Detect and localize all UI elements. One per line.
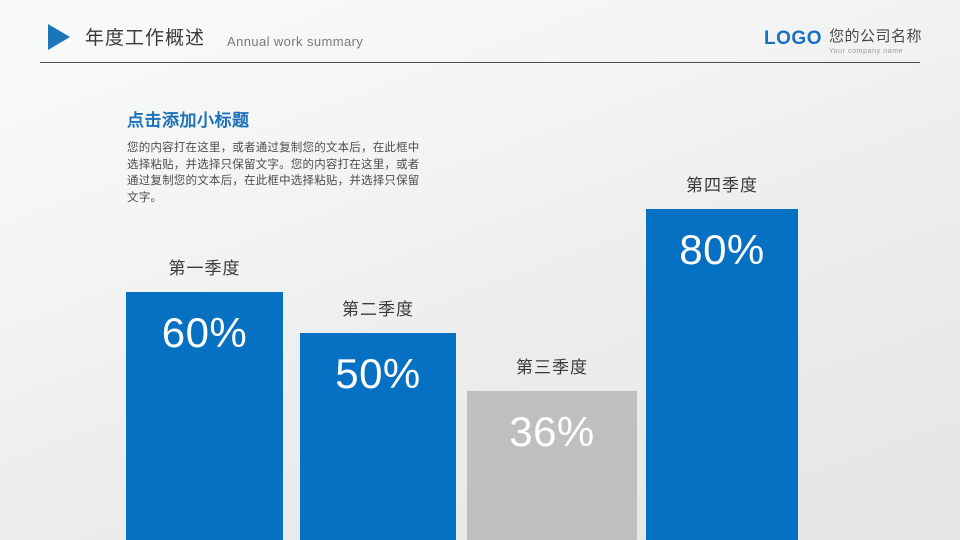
bar-group[interactable]: 第二季度50%	[300, 299, 456, 540]
bar-rect[interactable]: 80%	[646, 209, 798, 540]
bar-value-label: 36%	[467, 409, 637, 455]
bar-category-label: 第一季度	[126, 258, 283, 280]
slide-canvas: 年度工作概述 Annual work summary LOGO 您的公司名称 Y…	[0, 0, 960, 540]
bar-rect[interactable]: 50%	[300, 333, 456, 540]
bar-category-label: 第二季度	[300, 299, 456, 321]
bar-group[interactable]: 第四季度80%	[646, 175, 798, 540]
bar-group[interactable]: 第一季度60%	[126, 258, 283, 540]
bar-value-label: 80%	[646, 227, 798, 273]
bar-group[interactable]: 第三季度36%	[467, 357, 637, 540]
bar-category-label: 第三季度	[467, 357, 637, 379]
bar-value-label: 50%	[300, 351, 456, 397]
bar-rect[interactable]: 36%	[467, 391, 637, 540]
bar-chart: 第一季度60%第二季度50%第三季度36%第四季度80%	[0, 0, 960, 540]
bar-value-label: 60%	[126, 310, 283, 356]
bar-rect[interactable]: 60%	[126, 292, 283, 540]
bar-category-label: 第四季度	[646, 175, 798, 197]
